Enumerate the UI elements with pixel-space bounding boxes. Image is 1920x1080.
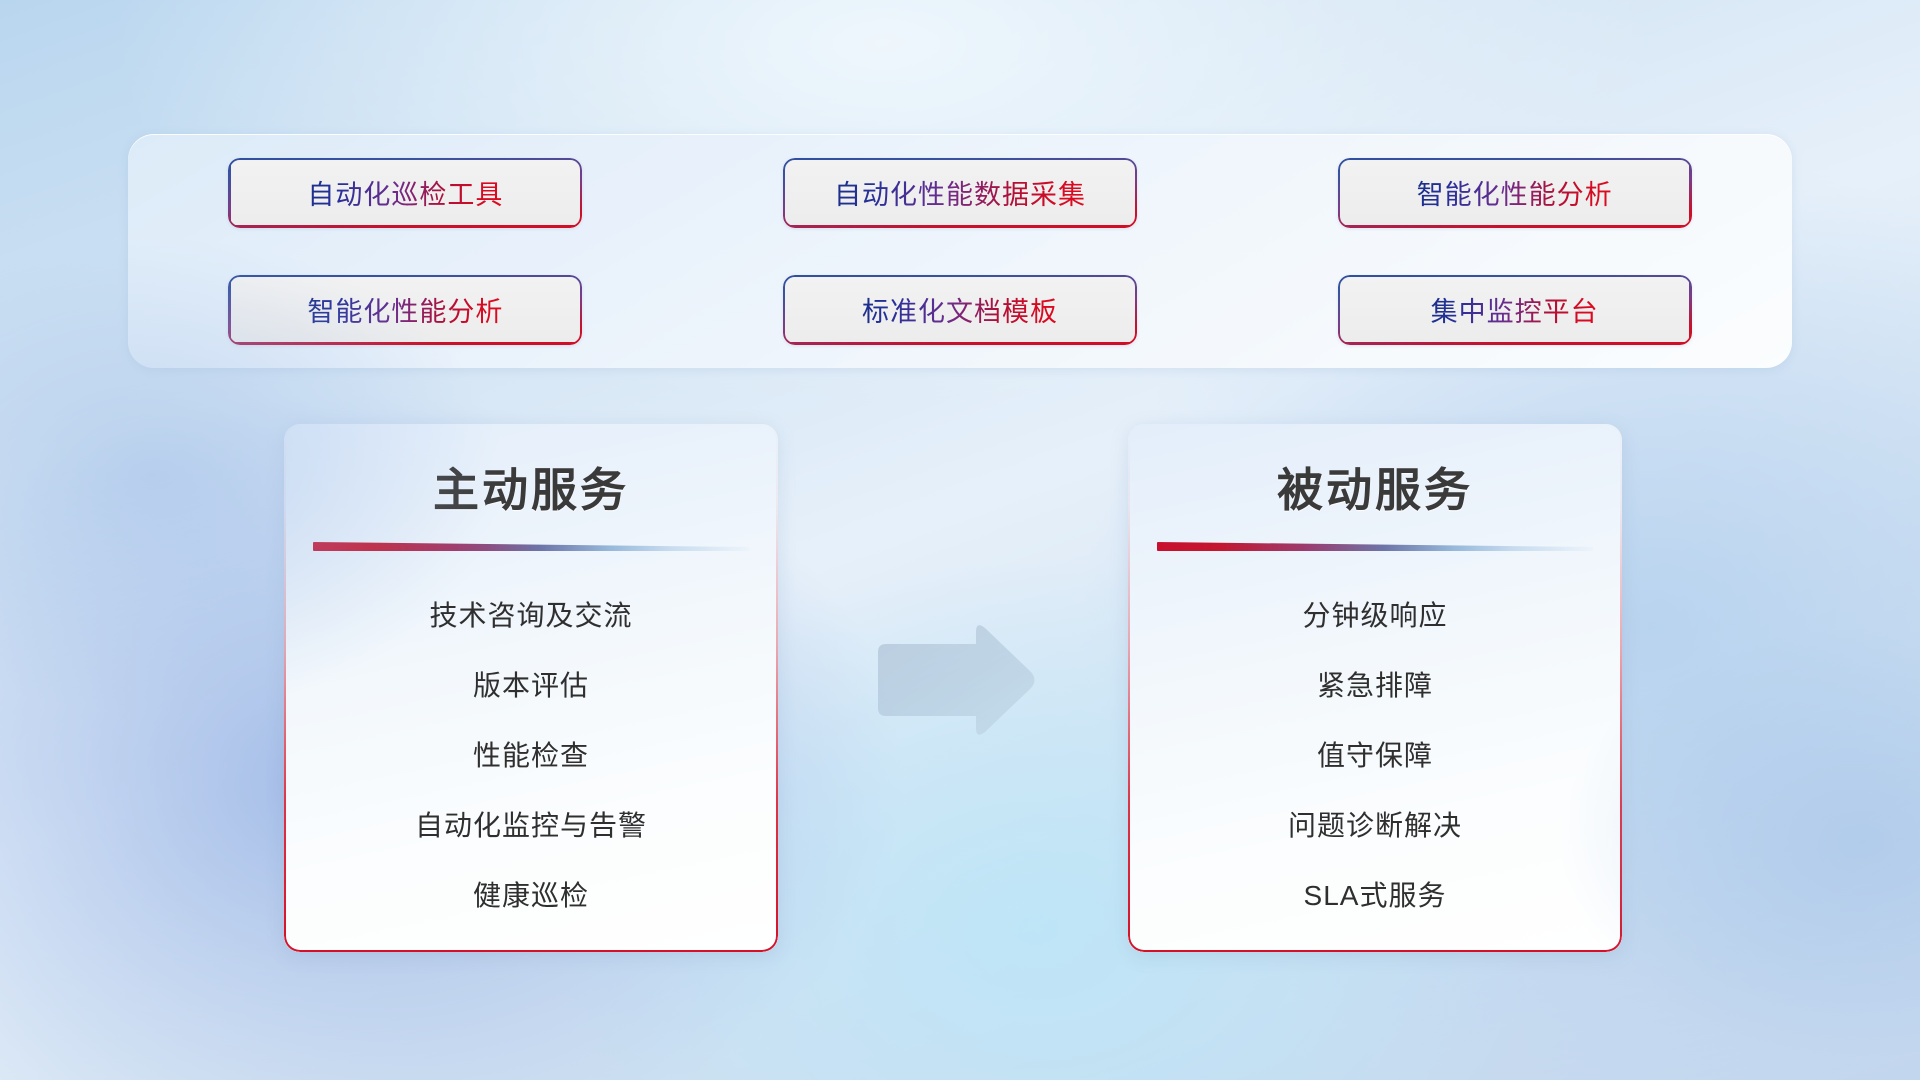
capability-chip-4[interactable]: 智能化性能分析 (228, 275, 582, 345)
capability-chip-5[interactable]: 标准化文档模板 (783, 275, 1137, 345)
capability-chip-1[interactable]: 自动化巡检工具 (228, 158, 582, 228)
capability-chip-label: 自动化性能数据采集 (834, 173, 1086, 212)
arrow-right-icon (872, 618, 1038, 742)
list-item[interactable]: 版本评估 (473, 651, 589, 721)
card-title: 主动服务 (433, 454, 629, 520)
capability-panel: 自动化巡检工具 自动化性能数据采集 智能化性能分析 智能化性能分析 标准化文档模… (128, 134, 1792, 368)
capability-chip-3[interactable]: 智能化性能分析 (1338, 158, 1692, 228)
list-item[interactable]: 自动化监控与告警 (415, 791, 647, 861)
service-item-list: 技术咨询及交流 版本评估 性能检查 自动化监控与告警 健康巡检 (284, 581, 778, 931)
slide-canvas: 自动化巡检工具 自动化性能数据采集 智能化性能分析 智能化性能分析 标准化文档模… (0, 0, 1920, 1080)
capability-chip-label: 集中监控平台 (1431, 290, 1599, 329)
service-item-list: 分钟级响应 紧急排障 值守保障 问题诊断解决 SLA式服务 (1128, 581, 1622, 931)
capability-chip-label: 智能化性能分析 (1417, 173, 1613, 212)
card-divider (284, 542, 778, 551)
list-item[interactable]: 分钟级响应 (1302, 581, 1447, 651)
service-card-proactive: 主动服务 技术咨询及交流 版本评估 性能检查 自动化监控与告警 健康巡检 (284, 424, 778, 952)
list-item[interactable]: 问题诊断解决 (1288, 791, 1462, 861)
list-item[interactable]: 技术咨询及交流 (429, 581, 632, 651)
capability-chip-2[interactable]: 自动化性能数据采集 (783, 158, 1137, 228)
capability-chip-label: 标准化文档模板 (862, 290, 1058, 329)
list-item[interactable]: SLA式服务 (1304, 861, 1447, 931)
capability-chip-label: 智能化性能分析 (307, 290, 503, 329)
list-item[interactable]: 健康巡检 (473, 861, 589, 931)
list-item[interactable]: 值守保障 (1317, 721, 1433, 791)
service-card-reactive: 被动服务 分钟级响应 紧急排障 值守保障 问题诊断解决 SLA式服务 (1128, 424, 1622, 952)
capability-chip-label: 自动化巡检工具 (307, 173, 503, 212)
card-title: 被动服务 (1277, 454, 1473, 520)
capability-chip-6[interactable]: 集中监控平台 (1338, 275, 1692, 345)
list-item[interactable]: 紧急排障 (1317, 651, 1433, 721)
card-divider (1128, 542, 1622, 551)
list-item[interactable]: 性能检查 (473, 721, 589, 791)
